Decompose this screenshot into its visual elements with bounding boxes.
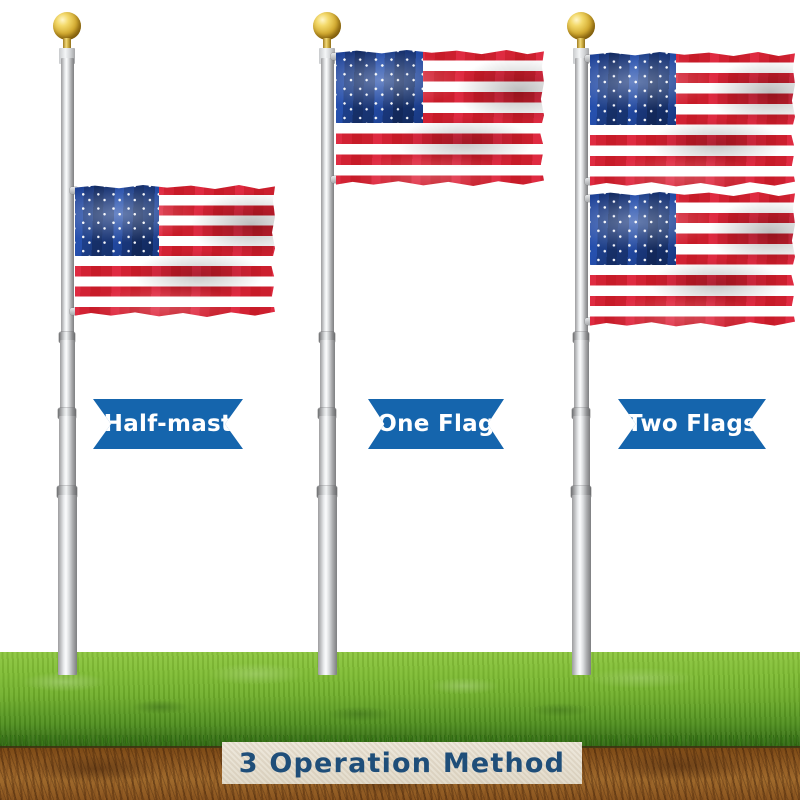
banner-label-half-mast: Half-mast	[104, 411, 233, 437]
flag-body	[590, 52, 795, 187]
banner-one-flag: One Flag	[368, 399, 504, 449]
flagpole-product-illustration: 3 Operation Method Half-mast	[0, 0, 800, 800]
flag-body	[336, 50, 544, 186]
banner-label-one-flag: One Flag	[377, 411, 495, 437]
pole-segment-4	[58, 495, 77, 675]
us-flag-lower	[590, 192, 795, 327]
flag-canton	[590, 192, 676, 265]
gold-ball-finial-icon	[53, 12, 81, 40]
pole-segment-1	[61, 58, 74, 336]
pole-segment-2	[320, 340, 335, 412]
us-flag	[336, 50, 544, 186]
gold-ball-finial-icon	[313, 12, 341, 40]
flag-stars	[336, 50, 423, 123]
pole-segment-3	[573, 416, 590, 490]
banner-half-mast: Half-mast	[93, 399, 243, 449]
pole-segment-1	[321, 58, 334, 336]
flag-body	[75, 185, 275, 317]
caption-band: 3 Operation Method	[222, 742, 582, 784]
us-flag	[75, 185, 275, 317]
pole-segment-4	[318, 495, 337, 675]
flag-stars	[590, 192, 676, 265]
pole-segment-3	[59, 416, 76, 490]
flag-canton	[590, 52, 676, 125]
flag-stars	[75, 185, 159, 256]
flag-canton	[336, 50, 423, 123]
banner-label-two-flags: Two Flags	[627, 411, 757, 437]
flag-stars	[590, 52, 676, 125]
pole-segment-2	[574, 340, 589, 412]
banner-two-flags: Two Flags	[618, 399, 766, 449]
flag-canton	[75, 185, 159, 256]
gold-ball-finial-icon	[567, 12, 595, 40]
pole-segment-2	[60, 340, 75, 412]
pole-segment-3	[319, 416, 336, 490]
flag-body	[590, 192, 795, 327]
caption-text: 3 Operation Method	[239, 748, 565, 779]
us-flag-upper	[590, 52, 795, 187]
pole-segment-4	[572, 495, 591, 675]
